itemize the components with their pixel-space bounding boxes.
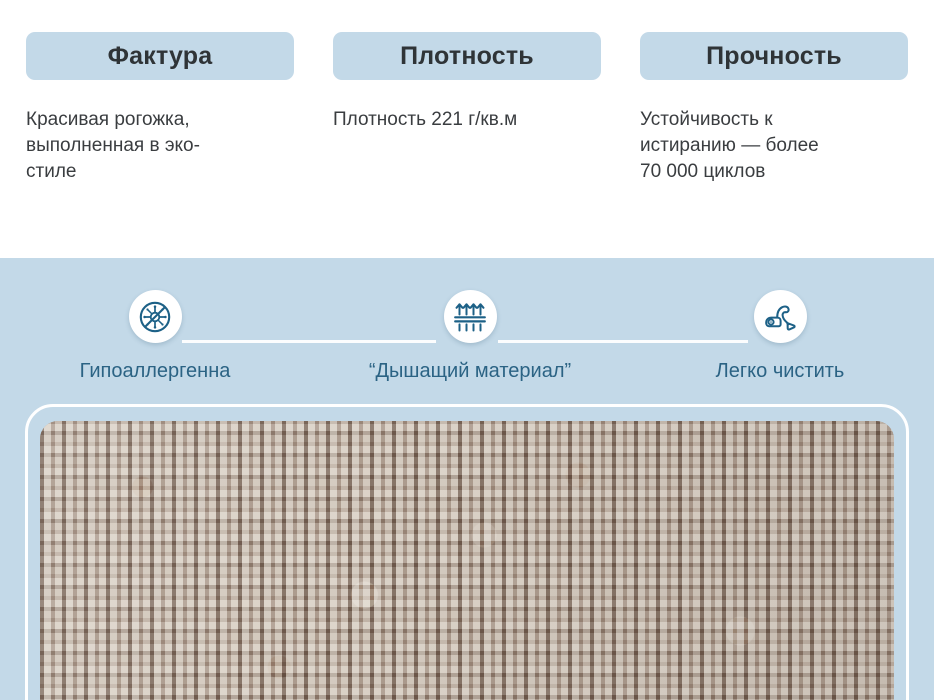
specifications-section: Фактура Красивая рогожка, выполненная в … <box>0 0 934 258</box>
feature-label-hypoallergenic: Гипоаллергенна <box>5 360 305 383</box>
spec-title-label: Прочность <box>706 42 842 71</box>
fabric-shading-overlay <box>40 421 894 700</box>
spec-description-durability: Устойчивость к истиранию — более 70 000 … <box>640 107 908 185</box>
breathable-material-icon <box>444 290 497 343</box>
spec-card-durability: Прочность Устойчивость к истиранию — бол… <box>640 32 908 185</box>
features-band: Гипоаллергенна <box>0 258 934 700</box>
spec-card-texture: Фактура Красивая рогожка, выполненная в … <box>26 32 294 185</box>
spec-description-density: Плотность 221 г/кв.м <box>333 107 601 133</box>
spec-title-pill-texture: Фактура <box>26 32 294 80</box>
feature-easy-clean: Легко чистить <box>630 282 930 383</box>
fabric-swatch-image <box>40 421 894 700</box>
feature-hypoallergenic: Гипоаллергенна <box>5 282 305 383</box>
spec-title-pill-density: Плотность <box>333 32 601 80</box>
specification-cards-row: Фактура Красивая рогожка, выполненная в … <box>26 32 908 185</box>
features-row: Гипоаллергенна <box>0 282 934 412</box>
spec-title-pill-durability: Прочность <box>640 32 908 80</box>
spec-title-label: Плотность <box>400 42 534 71</box>
no-allergen-icon <box>129 290 182 343</box>
feature-label-breathable: “Дышащий материал” <box>320 360 620 383</box>
vacuum-cleaner-icon <box>754 290 807 343</box>
feature-breathable: “Дышащий материал” <box>320 282 620 383</box>
feature-label-easy-clean: Легко чистить <box>630 360 930 383</box>
spec-description-texture: Красивая рогожка, выполненная в эко- сти… <box>26 107 294 185</box>
spec-card-density: Плотность Плотность 221 г/кв.м <box>333 32 601 185</box>
spec-title-label: Фактура <box>108 42 213 71</box>
